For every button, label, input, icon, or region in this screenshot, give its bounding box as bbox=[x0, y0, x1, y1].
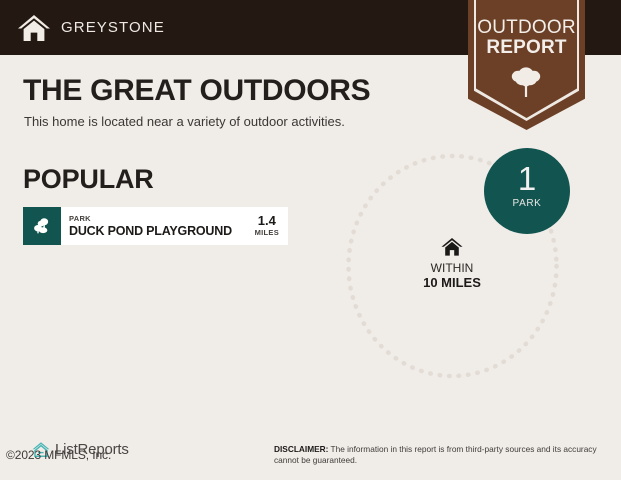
tree-icon bbox=[505, 60, 547, 102]
park-icon bbox=[23, 207, 61, 245]
home-icon bbox=[17, 13, 51, 43]
distance-value: 1.4 bbox=[255, 214, 279, 228]
popular-list: PARK DUCK POND PLAYGROUND 1.4 MILES bbox=[23, 207, 288, 245]
disclaimer-label: DISCLAIMER: bbox=[274, 444, 328, 454]
within-distance: 10 MILES bbox=[402, 275, 502, 290]
list-item[interactable]: PARK DUCK POND PLAYGROUND 1.4 MILES bbox=[23, 207, 288, 245]
list-item-text: PARK DUCK POND PLAYGROUND bbox=[61, 214, 255, 239]
within-label: WITHIN bbox=[402, 261, 502, 275]
within-block: WITHIN 10 MILES bbox=[402, 237, 502, 290]
section-heading-popular: POPULAR bbox=[23, 164, 154, 195]
count-label: PARK bbox=[484, 198, 570, 210]
count-badge: 1 PARK bbox=[484, 148, 570, 234]
page-subtitle: This home is located near a variety of o… bbox=[24, 114, 345, 129]
badge-title-line1: OUTDOOR bbox=[468, 17, 585, 39]
copyright-notice: ©2023 MFMLS, Inc. bbox=[6, 448, 111, 462]
home-icon bbox=[441, 237, 463, 257]
list-item-category: PARK bbox=[69, 214, 255, 224]
distance-unit: MILES bbox=[255, 228, 279, 238]
count-value: 1 bbox=[484, 160, 570, 198]
list-item-name: DUCK POND PLAYGROUND bbox=[69, 224, 255, 239]
disclaimer: DISCLAIMER: The information in this repo… bbox=[274, 444, 604, 466]
outdoor-report-page: GREYSTONE OUTDOOR REPORT THE GREAT OUTDO… bbox=[0, 0, 621, 480]
page-title: THE GREAT OUTDOORS bbox=[23, 74, 370, 108]
badge-title-line2: REPORT bbox=[468, 37, 585, 59]
brand-name: GREYSTONE bbox=[61, 19, 165, 36]
list-item-distance: 1.4 MILES bbox=[255, 214, 288, 238]
